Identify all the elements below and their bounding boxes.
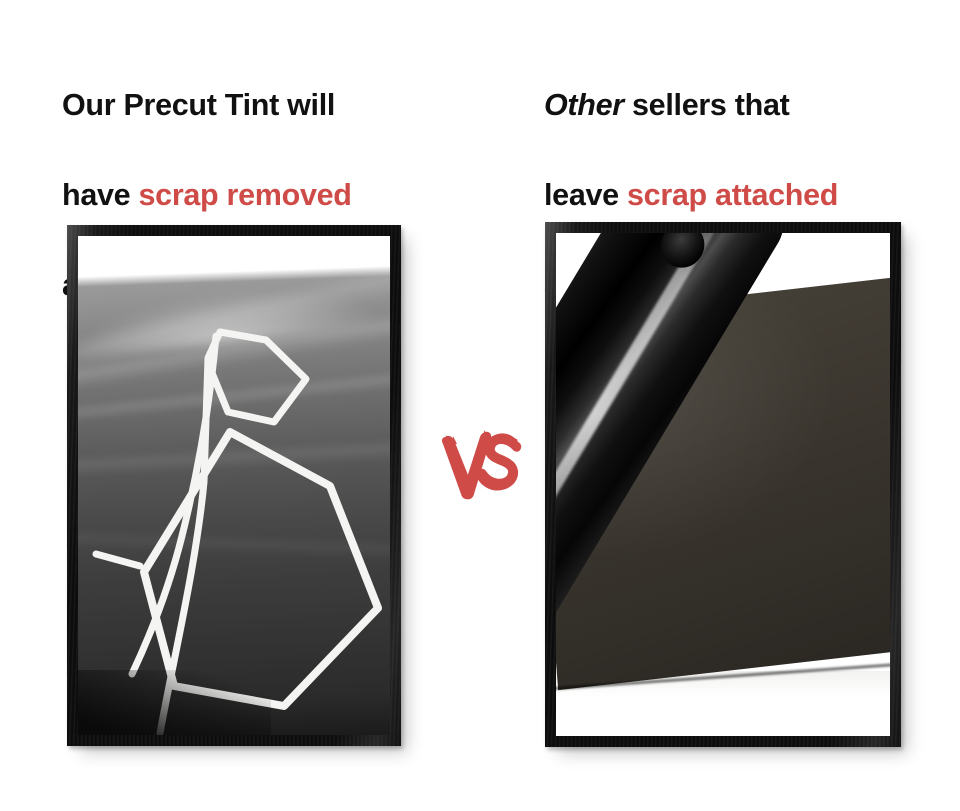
right-heading-emphasis: Other [544,88,624,122]
right-photo-uncut-roll [556,233,890,736]
vs-brush-glyph [441,424,523,508]
left-heading-highlight: scrap removed [139,178,352,212]
precut-scrap-removed-cut-lines [78,236,390,735]
left-heading-line-2: have scrap removed [62,173,462,218]
vs-divider-mark [441,424,523,508]
left-photo-precut-tint [78,236,390,735]
right-heading-line-1-rest: sellers that [624,88,790,122]
right-heading-line-2-prefix: leave [544,178,627,212]
left-heading-line-2-prefix: have [62,178,139,212]
right-heading-line-1: Other sellers that [544,83,944,128]
right-heading-line-2: leave scrap attached [544,173,944,218]
right-heading-highlight: scrap attached [627,178,838,212]
left-heading-line-1: Our Precut Tint will [62,83,462,128]
right-photo-frame [545,222,901,747]
comparison-infographic: Our Precut Tint will have scrap removed … [0,0,960,811]
left-photo-frame [67,225,401,746]
